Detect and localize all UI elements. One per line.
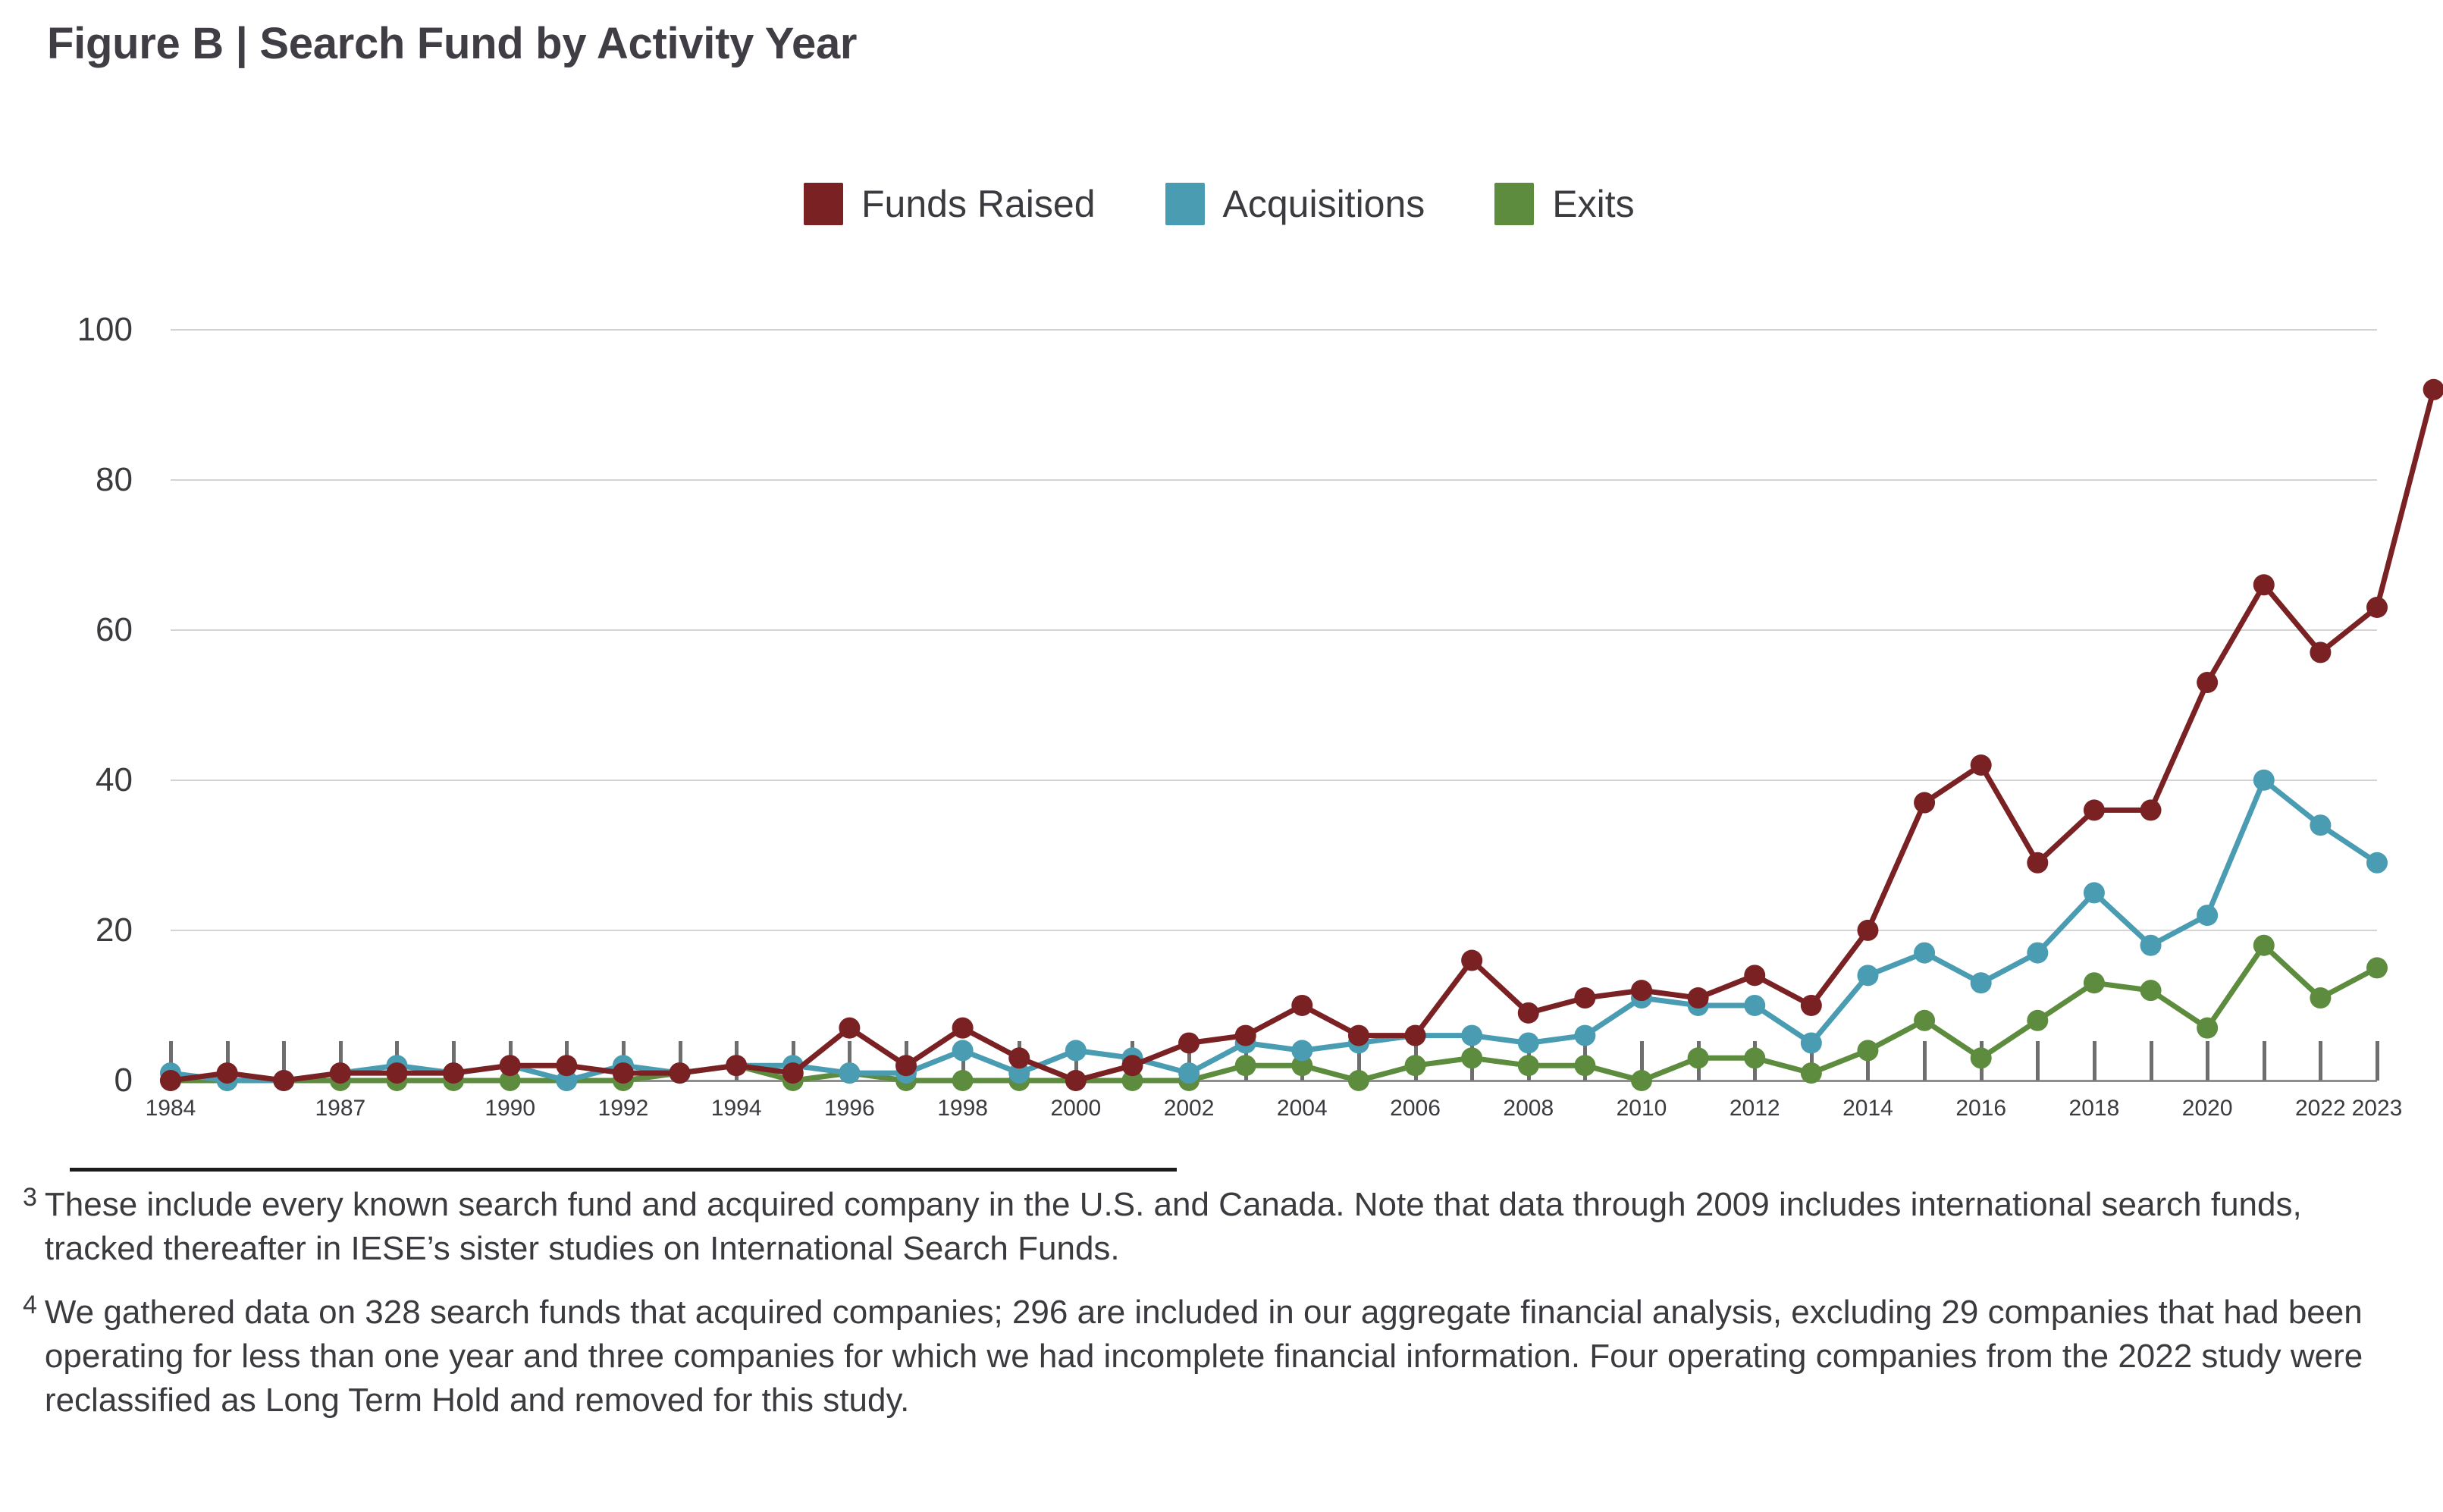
data-point-marker xyxy=(330,1062,351,1084)
data-point-marker xyxy=(2423,379,2443,400)
data-point-marker xyxy=(2366,852,2388,874)
data-point-marker xyxy=(1008,1047,1030,1068)
chart-legend: Funds RaisedAcquisitionsExits xyxy=(804,182,1635,226)
legend-label: Acquisitions xyxy=(1223,182,1425,226)
x-axis-tick-label: 2014 xyxy=(1842,1096,1893,1121)
data-point-marker xyxy=(1744,995,1765,1016)
data-point-marker xyxy=(1348,1070,1369,1091)
data-point-marker xyxy=(1518,1055,1539,1076)
data-point-marker xyxy=(1971,754,1992,776)
y-axis-tick-label: 80 xyxy=(0,461,133,499)
footnotes: 3These include every known search fund a… xyxy=(23,1183,2396,1442)
series-line xyxy=(171,780,2377,1081)
data-point-marker xyxy=(2366,597,2388,618)
y-axis-tick-label: 0 xyxy=(0,1062,133,1099)
y-axis-tick-label: 100 xyxy=(0,311,133,349)
y-axis-tick-label: 20 xyxy=(0,911,133,949)
x-axis-tick-label: 2010 xyxy=(1617,1096,1667,1121)
data-point-marker xyxy=(1688,1047,1709,1068)
x-axis-tick-label: 1990 xyxy=(485,1096,535,1121)
x-axis-tick-label: 1992 xyxy=(598,1096,649,1121)
data-point-marker xyxy=(2197,672,2218,693)
footnote: 4We gathered data on 328 search funds th… xyxy=(23,1291,2396,1423)
data-point-marker xyxy=(2084,799,2105,820)
legend-item: Acquisitions xyxy=(1165,182,1425,226)
data-point-marker xyxy=(1121,1055,1143,1076)
x-axis-tick-label: 2006 xyxy=(1390,1096,1441,1121)
x-axis-tick-label: 2023 xyxy=(2352,1096,2403,1121)
data-point-marker xyxy=(1631,1070,1652,1091)
data-point-marker xyxy=(2084,882,2105,903)
x-axis-tick-label: 2020 xyxy=(2182,1096,2233,1121)
data-point-marker xyxy=(556,1055,577,1076)
data-point-marker xyxy=(2140,980,2162,1001)
data-point-marker xyxy=(1461,950,1482,971)
data-point-marker xyxy=(500,1055,521,1076)
data-point-marker xyxy=(2084,972,2105,993)
data-point-marker xyxy=(443,1062,464,1084)
data-point-marker xyxy=(1574,1025,1595,1046)
data-point-marker xyxy=(160,1070,181,1091)
data-point-marker xyxy=(952,1070,974,1091)
data-point-marker xyxy=(2366,957,2388,978)
legend-swatch-icon xyxy=(1165,183,1205,225)
x-axis-tick-label: 2022 xyxy=(2295,1096,2346,1121)
data-point-marker xyxy=(1857,1040,1878,1061)
x-axis-tick-label: 1984 xyxy=(146,1096,196,1121)
legend-item: Funds Raised xyxy=(804,182,1096,226)
data-point-marker xyxy=(952,1018,974,1039)
data-point-marker xyxy=(1518,1002,1539,1024)
footnote-rule xyxy=(70,1168,1177,1172)
data-point-marker xyxy=(273,1070,294,1091)
page-title: Figure B | Search Fund by Activity Year xyxy=(47,18,857,69)
data-point-marker xyxy=(2310,814,2331,836)
data-point-marker xyxy=(1857,965,1878,986)
legend-swatch-icon xyxy=(1494,183,1534,225)
data-point-marker xyxy=(1178,1062,1200,1084)
data-point-marker xyxy=(1348,1025,1369,1046)
x-axis-tick-label: 2016 xyxy=(1955,1096,2006,1121)
footnote-marker: 4 xyxy=(23,1292,37,1318)
x-axis-tick-label: 1996 xyxy=(824,1096,875,1121)
legend-swatch-icon xyxy=(804,183,843,225)
data-point-marker xyxy=(1631,980,1652,1001)
data-point-marker xyxy=(1405,1055,1426,1076)
data-point-marker xyxy=(2310,987,2331,1009)
legend-label: Exits xyxy=(1552,182,1634,226)
data-point-marker xyxy=(726,1055,747,1076)
data-point-marker xyxy=(1574,987,1595,1009)
x-axis-tick-label: 2008 xyxy=(1503,1096,1554,1121)
x-axis-labels: 1984198719901992199419961998200020022004… xyxy=(171,1096,2377,1141)
data-point-marker xyxy=(1801,995,1822,1016)
data-point-marker xyxy=(1405,1025,1426,1046)
data-point-marker xyxy=(782,1062,804,1084)
x-axis-tick-label: 1994 xyxy=(711,1096,762,1121)
chart-area: 020406080100 198419871990199219941996199… xyxy=(0,258,2443,1107)
data-point-marker xyxy=(952,1040,974,1061)
data-point-marker xyxy=(2027,1010,2048,1031)
data-point-marker xyxy=(1291,995,1312,1016)
data-point-marker xyxy=(1688,987,1709,1009)
data-point-marker xyxy=(670,1062,691,1084)
data-point-marker xyxy=(2027,943,2048,964)
footnote: 3These include every known search fund a… xyxy=(23,1183,2396,1271)
data-point-marker xyxy=(1857,920,1878,941)
figure-page: Figure B | Search Fund by Activity Year … xyxy=(0,0,2443,1512)
data-point-marker xyxy=(2197,905,2218,926)
x-axis-tick-label: 2012 xyxy=(1730,1096,1780,1121)
data-point-marker xyxy=(1971,972,1992,993)
data-point-marker xyxy=(895,1055,917,1076)
data-point-marker xyxy=(1291,1040,1312,1061)
data-point-marker xyxy=(1178,1032,1200,1053)
data-point-marker xyxy=(1235,1055,1256,1076)
data-point-marker xyxy=(1461,1047,1482,1068)
legend-label: Funds Raised xyxy=(861,182,1096,226)
data-point-marker xyxy=(1914,943,1935,964)
data-point-marker xyxy=(1801,1032,1822,1053)
data-point-marker xyxy=(1801,1062,1822,1084)
data-point-marker xyxy=(386,1062,407,1084)
legend-item: Exits xyxy=(1494,182,1634,226)
data-point-marker xyxy=(2253,574,2275,595)
data-point-marker xyxy=(839,1018,860,1039)
data-point-marker xyxy=(2253,935,2275,956)
data-point-marker xyxy=(1235,1025,1256,1046)
data-point-marker xyxy=(1574,1055,1595,1076)
data-point-marker xyxy=(1744,1047,1765,1068)
data-point-marker xyxy=(2310,642,2331,663)
footnote-marker: 3 xyxy=(23,1184,37,1210)
data-point-marker xyxy=(2140,799,2162,820)
x-axis-tick-label: 2000 xyxy=(1050,1096,1101,1121)
x-axis-tick-label: 2002 xyxy=(1164,1096,1215,1121)
data-point-marker xyxy=(1065,1070,1087,1091)
y-axis-tick-label: 60 xyxy=(0,611,133,649)
data-point-marker xyxy=(1914,792,1935,814)
x-axis-tick-label: 1987 xyxy=(315,1096,365,1121)
x-axis-tick-label: 2004 xyxy=(1277,1096,1328,1121)
data-point-marker xyxy=(1461,1025,1482,1046)
data-point-marker xyxy=(2027,852,2048,874)
y-axis-labels: 020406080100 xyxy=(0,292,152,1081)
series-lines xyxy=(171,292,2377,1081)
data-point-marker xyxy=(217,1062,238,1084)
footnote-text: We gathered data on 328 search funds tha… xyxy=(45,1291,2396,1423)
x-axis-tick-label: 1998 xyxy=(937,1096,988,1121)
data-point-marker xyxy=(1744,965,1765,986)
data-point-marker xyxy=(839,1062,860,1084)
x-axis-tick-label: 2018 xyxy=(2069,1096,2120,1121)
data-point-marker xyxy=(1971,1047,1992,1068)
data-point-marker xyxy=(1065,1040,1087,1061)
data-point-marker xyxy=(613,1062,634,1084)
y-axis-tick-label: 40 xyxy=(0,761,133,799)
data-point-marker xyxy=(2253,770,2275,791)
data-point-marker xyxy=(2140,935,2162,956)
plot-region xyxy=(171,292,2377,1081)
data-point-marker xyxy=(1518,1032,1539,1053)
data-point-marker xyxy=(2197,1018,2218,1039)
data-point-marker xyxy=(1914,1010,1935,1031)
footnote-text: These include every known search fund an… xyxy=(45,1183,2396,1271)
